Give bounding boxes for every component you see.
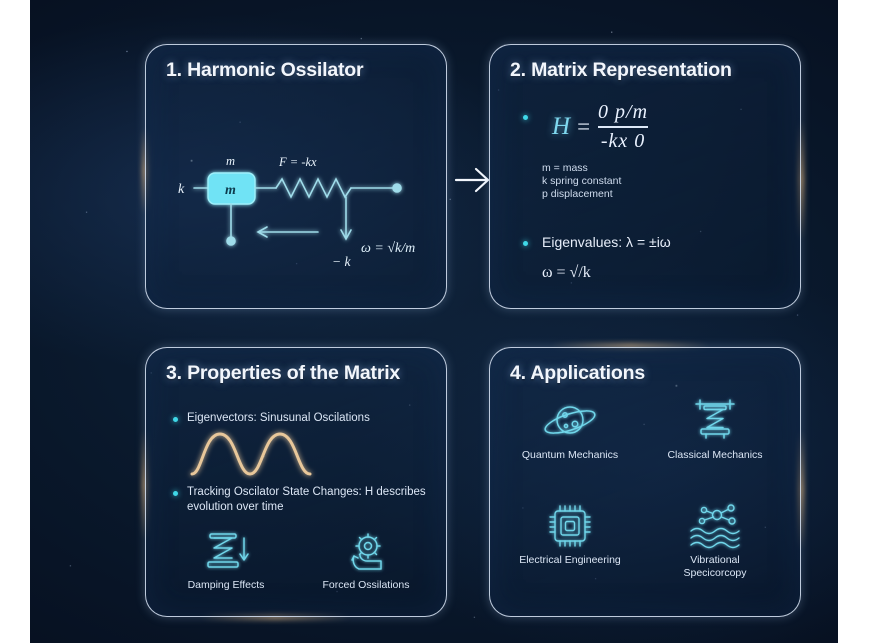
legend-mass: m = mass [542,162,588,174]
icon-item-forced-oscillations: Forced Ossilations [311,530,421,592]
matrix-row-top: 0 p/m [598,101,648,124]
planet-icon [541,398,599,446]
label-mass-block: m [225,183,236,198]
omega-text: ω = √/k [542,264,591,282]
matrix-row-bottom: -kx 0 [601,130,645,153]
label-spring-constant-k: k [178,182,185,197]
legend-spring-constant: k spring constant [542,175,621,187]
icon-item-damping: Damping Effects [171,530,281,592]
icon-item-electrical-engineering: Electrical Engineering [515,503,625,567]
spring-damper-icon [686,398,744,446]
matrix-body: 0 p/m -kx 0 [598,101,648,153]
matrix-equation: H = 0 p/m -kx 0 [552,101,648,153]
vibrational-spectroscopy-caption: Vibrational Specicorcopy [660,554,770,580]
bullet-dot-eigenvalues [523,241,528,246]
tracking-text: Tracking Oscilator State Changes: H desc… [187,485,432,515]
matrix-symbol-H: H [552,113,570,141]
bullet-dot-tracking [173,491,178,496]
panel2-title: 2. Matrix Representation [510,59,732,82]
label-force: F = -kx [278,155,317,169]
label-omega-formula: ω = √k/m [361,241,415,256]
legend-displacement: p displacement [542,188,613,200]
classical-mechanics-caption: Classical Mechanics [660,449,770,462]
label-negative-k: − k [332,254,351,269]
matrix-equals-sign: = [577,114,590,140]
quantum-mechanics-caption: Quantum Mechanics [515,449,625,462]
icon-item-classical-mechanics: Classical Mechanics [660,398,770,462]
panel-applications: 4. Applications [489,347,801,617]
panel-properties-of-matrix: 3. Properties of the Matrix Eigenvectors… [145,347,447,617]
panel3-title: 3. Properties of the Matrix [166,362,400,385]
starfield-canvas: 1. Harmonic Ossilator [30,0,838,643]
arrow-right-icon [454,163,494,197]
forced-oscillations-caption: Forced Ossilations [311,579,421,592]
bullet-dot-eigenvectors [173,417,178,422]
matrix-divider [598,126,648,128]
bullet-dot-matrix [523,115,528,120]
icon-item-quantum-mechanics: Quantum Mechanics [515,398,625,462]
damping-caption: Damping Effects [171,579,281,592]
eigenvalues-text: Eigenvalues: λ = ±iω [542,234,671,250]
label-mass-top: m [226,154,235,168]
panel-matrix-representation: 2. Matrix Representation H = 0 p/m -kx 0… [489,44,801,309]
damping-icon [200,530,252,576]
infographic-root: 1. Harmonic Ossilator [0,0,870,643]
molecule-waves-icon [687,503,743,551]
panel4-title: 4. Applications [510,362,645,385]
microchip-icon [544,503,596,551]
forced-oscillations-icon [340,530,392,576]
electrical-engineering-caption: Electrical Engineering [515,554,625,567]
panel-harmonic-oscillator: 1. Harmonic Ossilator [145,44,447,309]
spring-mass-diagram: k m m F = -kx ω = √k/m − k [146,45,448,310]
icon-item-vibrational-spectroscopy: Vibrational Specicorcopy [660,503,770,580]
sine-wave-graphic [188,424,328,479]
